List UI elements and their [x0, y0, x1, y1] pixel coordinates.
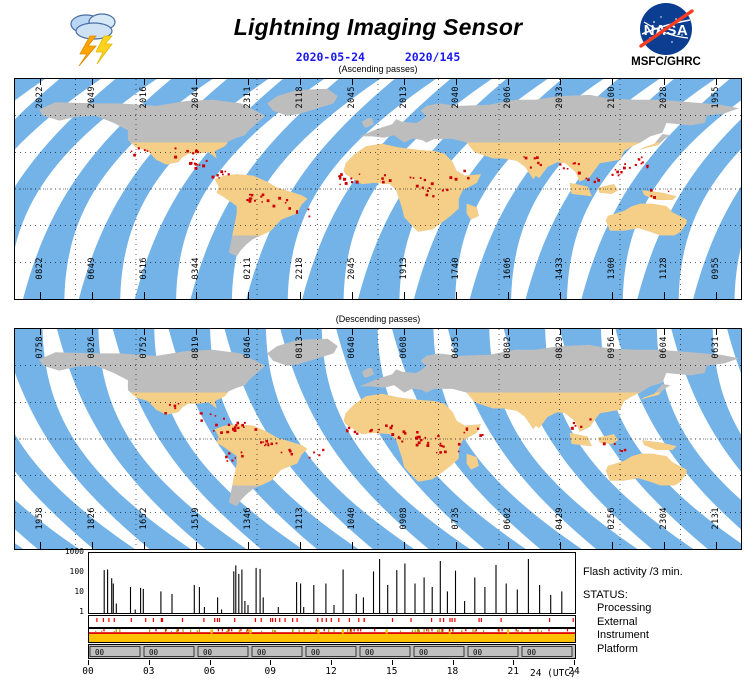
chart-x-label-06: 06	[204, 666, 215, 677]
chart-x-label-03: 03	[143, 666, 154, 677]
map-bottom-tick	[716, 542, 717, 550]
map-bottom-time-label: 1213	[295, 507, 305, 529]
map-bottom-time-label: 1652	[139, 507, 149, 529]
map-bottom-time-label: 2045	[347, 257, 357, 279]
chart-x-tick	[574, 660, 575, 665]
legend-status-processing: Processing	[583, 602, 755, 616]
map-top-tick	[560, 328, 561, 335]
map-bottom-tick	[352, 542, 353, 550]
map-top-tick	[40, 328, 41, 335]
map-bottom-tick	[612, 292, 613, 300]
svg-text:00: 00	[365, 648, 375, 657]
map-bottom-time-label: 1740	[451, 257, 461, 279]
map-bottom-tick	[196, 542, 197, 550]
svg-text:00: 00	[203, 648, 213, 657]
map-bottom-tick	[352, 292, 353, 300]
map-bottom-tick	[404, 542, 405, 550]
map-bottom-tick	[508, 542, 509, 550]
flash-activity-chart[interactable]: 1101001000 000000000000000000	[88, 552, 576, 660]
chart-plot-area[interactable]	[88, 552, 576, 614]
map-bottom-time-label: 2131	[711, 507, 721, 529]
map-bottom-tick	[144, 542, 145, 550]
map-top-tick	[612, 328, 613, 335]
map-top-tick	[300, 328, 301, 335]
map-bottom-tick	[716, 292, 717, 300]
map-top-tick	[508, 78, 509, 85]
map-top-tick	[456, 78, 457, 85]
map-top-time-label: 0752	[139, 336, 149, 358]
flash-activity-series	[89, 553, 575, 613]
map-top-tick	[352, 78, 353, 85]
chart-x-label-00: 00	[82, 666, 93, 677]
map-bottom-time-label: 0602	[503, 507, 513, 529]
map-bottom-time-label: 1040	[347, 507, 357, 529]
map-bottom-time-label: 0211	[243, 257, 253, 279]
map-bottom-tick	[300, 292, 301, 300]
map-top-time-label: 0826	[87, 336, 97, 358]
map-top-tick	[196, 78, 197, 85]
map-bottom-time-label: 1958	[35, 507, 45, 529]
svg-text:00: 00	[311, 648, 321, 657]
agency-label: MSFC/GHRC	[610, 56, 722, 68]
legend-status-instrument: Instrument	[583, 629, 755, 643]
chart-x-axis: 000306091215182124	[88, 660, 576, 678]
map-bottom-time-label: 0649	[87, 257, 97, 279]
descending-map-svg	[15, 329, 741, 549]
svg-text:00: 00	[419, 648, 429, 657]
svg-text:00: 00	[527, 648, 537, 657]
map-top-tick	[40, 78, 41, 85]
chart-x-label-18: 18	[447, 666, 458, 677]
descending-pass-caption: (Descending passes)	[178, 314, 578, 324]
nasa-meatball-logo: NASA	[628, 2, 704, 56]
map-top-tick	[612, 78, 613, 85]
map-top-tick	[92, 78, 93, 85]
map-bottom-tick	[92, 292, 93, 300]
map-bottom-tick	[560, 542, 561, 550]
map-bottom-tick	[92, 542, 93, 550]
map-top-time-label: 2022	[35, 86, 45, 108]
map-bottom-tick	[248, 292, 249, 300]
map-bottom-time-label: 2304	[659, 507, 669, 529]
legend-status-header: STATUS:	[583, 589, 755, 603]
map-top-tick	[196, 328, 197, 335]
chart-x-tick	[453, 660, 454, 665]
map-bottom-time-label: 0344	[191, 257, 201, 279]
descending-pass-map[interactable]: 0758082607520819084608130640060806350802…	[14, 328, 742, 550]
map-top-tick	[404, 328, 405, 335]
map-bottom-time-label: 1433	[555, 257, 565, 279]
map-bottom-time-label: 2218	[295, 257, 305, 279]
map-bottom-tick	[40, 292, 41, 300]
observation-date: 2020-05-24	[296, 50, 365, 64]
thunderstorm-cloud-icon	[60, 6, 132, 66]
map-bottom-tick	[196, 292, 197, 300]
map-bottom-time-label: 0429	[555, 507, 565, 529]
map-bottom-tick	[456, 542, 457, 550]
status-platform-ticks: 000000000000000000	[89, 645, 575, 658]
map-top-time-label: 0819	[191, 336, 201, 358]
map-top-time-label: 2016	[139, 86, 149, 108]
page-title: Lightning Imaging Sensor	[178, 14, 578, 41]
map-top-tick	[456, 328, 457, 335]
map-bottom-time-label: 0516	[139, 257, 149, 279]
map-top-time-label: 2044	[191, 86, 201, 108]
map-bottom-tick	[664, 542, 665, 550]
map-top-time-label: 2311	[243, 86, 253, 108]
chart-x-tick	[331, 660, 332, 665]
map-bottom-time-label: 1606	[503, 257, 513, 279]
map-top-time-label: 2006	[503, 86, 513, 108]
map-top-tick	[560, 78, 561, 85]
map-top-time-label: 0631	[711, 336, 721, 358]
chart-x-tick	[392, 660, 393, 665]
svg-text:00: 00	[149, 648, 159, 657]
ascending-map-canvas[interactable]	[14, 78, 742, 300]
ascending-pass-caption: (Ascending passes)	[178, 64, 578, 74]
map-bottom-time-label: 0822	[35, 257, 45, 279]
map-top-time-label: 2040	[451, 86, 461, 108]
ascending-pass-map[interactable]: 2022204920162044231121182045201320402006…	[14, 78, 742, 300]
chart-x-label-09: 09	[265, 666, 276, 677]
map-top-time-label: 0956	[607, 336, 617, 358]
map-top-time-label: 2028	[659, 86, 669, 108]
svg-text:00: 00	[257, 648, 267, 657]
chart-x-label-12: 12	[325, 666, 336, 677]
map-top-time-label: 2013	[399, 86, 409, 108]
legend-flash-activity: Flash activity /3 min.	[583, 566, 755, 580]
map-top-time-label: 2118	[295, 86, 305, 108]
map-bottom-tick	[664, 292, 665, 300]
chart-x-label-21: 21	[508, 666, 519, 677]
status-processing-bar[interactable]	[88, 615, 576, 628]
chart-y-tick-1000: 1000	[65, 547, 84, 556]
utc-axis-label: 24 (UTC)	[530, 668, 576, 679]
map-bottom-time-label: 1300	[607, 257, 617, 279]
descending-map-canvas[interactable]	[14, 328, 742, 550]
map-top-tick	[716, 78, 717, 85]
map-top-time-label: 0604	[659, 336, 669, 358]
chart-y-axis-labels: 1101001000	[58, 552, 86, 614]
map-top-time-label: 2100	[607, 86, 617, 108]
svg-text:00: 00	[95, 648, 105, 657]
map-bottom-time-label: 0955	[711, 257, 721, 279]
map-top-time-label: 0640	[347, 336, 357, 358]
chart-y-tick-10: 10	[74, 587, 84, 596]
map-bottom-time-label: 1913	[399, 257, 409, 279]
status-external-instrument-bar[interactable]	[88, 628, 576, 643]
page-header: Lightning Imaging Sensor 2020-05-24 2020…	[0, 0, 756, 72]
map-bottom-tick	[40, 542, 41, 550]
map-bottom-time-label: 0256	[607, 507, 617, 529]
map-top-tick	[664, 78, 665, 85]
legend-spacer	[583, 580, 755, 589]
chart-x-tick	[88, 660, 89, 665]
map-bottom-time-label: 1826	[87, 507, 97, 529]
map-top-tick	[144, 78, 145, 85]
chart-x-label-15: 15	[386, 666, 397, 677]
chart-x-tick	[270, 660, 271, 665]
day-of-year: 2020/145	[405, 50, 460, 64]
map-bottom-tick	[144, 292, 145, 300]
map-top-tick	[716, 328, 717, 335]
map-top-tick	[404, 78, 405, 85]
map-top-tick	[248, 78, 249, 85]
map-bottom-tick	[404, 292, 405, 300]
map-bottom-tick	[248, 542, 249, 550]
map-top-time-label: 1955	[711, 86, 721, 108]
chart-y-tick-100: 100	[70, 567, 84, 576]
map-top-time-label: 0758	[35, 336, 45, 358]
chart-x-tick	[513, 660, 514, 665]
legend-status-platform: Platform	[583, 643, 755, 657]
map-bottom-tick	[508, 292, 509, 300]
map-top-tick	[144, 328, 145, 335]
status-external-ticks	[89, 629, 575, 642]
map-bottom-time-label: 0908	[399, 507, 409, 529]
map-top-tick	[508, 328, 509, 335]
map-bottom-tick	[560, 292, 561, 300]
map-top-time-label: 0846	[243, 336, 253, 358]
map-top-tick	[352, 328, 353, 335]
map-top-time-label: 0829	[555, 336, 565, 358]
map-bottom-time-label: 1346	[243, 507, 253, 529]
ascending-map-svg	[15, 79, 741, 299]
chart-x-tick	[210, 660, 211, 665]
map-top-time-label: 0635	[451, 336, 461, 358]
status-platform-bar[interactable]: 000000000000000000	[88, 644, 576, 659]
chart-legend: Flash activity /3 min. STATUS: Processin…	[583, 566, 755, 656]
svg-text:00: 00	[473, 648, 483, 657]
map-bottom-tick	[612, 542, 613, 550]
map-top-time-label: 2033	[555, 86, 565, 108]
legend-status-external: External	[583, 616, 755, 630]
map-top-tick	[92, 328, 93, 335]
map-bottom-time-label: 0735	[451, 507, 461, 529]
map-top-time-label: 2049	[87, 86, 97, 108]
map-top-time-label: 0813	[295, 336, 305, 358]
map-bottom-tick	[300, 542, 301, 550]
map-top-time-label: 0608	[399, 336, 409, 358]
map-top-tick	[248, 328, 249, 335]
date-row: 2020-05-24 2020/145	[178, 50, 578, 64]
map-bottom-time-label: 1519	[191, 507, 201, 529]
map-bottom-tick	[456, 292, 457, 300]
map-top-time-label: 0802	[503, 336, 513, 358]
chart-x-tick	[149, 660, 150, 665]
map-top-tick	[664, 328, 665, 335]
map-bottom-time-label: 1128	[659, 257, 669, 279]
chart-y-tick-1: 1	[79, 607, 84, 616]
map-top-tick	[300, 78, 301, 85]
map-top-time-label: 2045	[347, 86, 357, 108]
